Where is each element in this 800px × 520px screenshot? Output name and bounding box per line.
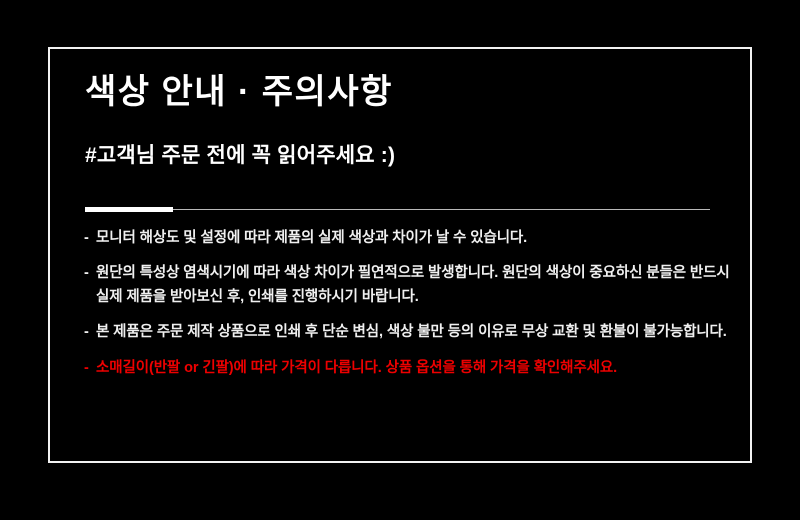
notice-banner: 색상 안내 · 주의사항 #고객님 주문 전에 꼭 읽어주세요 :) - 모니터… — [0, 0, 800, 520]
bullet-dash-icon: - — [84, 262, 89, 285]
list-item-text: 모니터 해상도 및 설정에 따라 제품의 실제 색상과 차이가 날 수 있습니다… — [96, 227, 734, 250]
list-item: - 원단의 특성상 염색시기에 따라 색상 차이가 필연적으로 발생합니다. 원… — [84, 262, 734, 309]
notice-item-list: - 모니터 해상도 및 설정에 따라 제품의 실제 색상과 차이가 날 수 있습… — [84, 227, 734, 392]
list-item-text: 소매길이(반팔 or 긴팔)에 따라 가격이 다릅니다. 상품 옵션을 통해 가… — [96, 357, 734, 380]
notice-content: 색상 안내 · 주의사항 #고객님 주문 전에 꼭 읽어주세요 :) - 모니터… — [50, 49, 750, 461]
bullet-dash-icon: - — [84, 357, 89, 380]
page-title: 색상 안내 · 주의사항 — [85, 74, 393, 111]
bullet-dash-icon: - — [84, 227, 89, 250]
divider-accent-segment — [85, 207, 173, 212]
divider-rule — [173, 209, 710, 210]
list-item-text: 원단의 특성상 염색시기에 따라 색상 차이가 필연적으로 발생합니다. 원단의… — [96, 262, 734, 309]
list-item: - 모니터 해상도 및 설정에 따라 제품의 실제 색상과 차이가 날 수 있습… — [84, 227, 734, 250]
page-subtitle: #고객님 주문 전에 꼭 읽어주세요 :) — [85, 144, 395, 167]
bullet-dash-icon: - — [84, 321, 89, 344]
list-item-alert: - 소매길이(반팔 or 긴팔)에 따라 가격이 다릅니다. 상품 옵션을 통해… — [84, 357, 734, 380]
list-item: - 본 제품은 주문 제작 상품으로 인쇄 후 단순 변심, 색상 불만 등의 … — [84, 321, 734, 344]
list-item-text: 본 제품은 주문 제작 상품으로 인쇄 후 단순 변심, 색상 불만 등의 이유… — [96, 321, 734, 344]
notice-frame-border: 색상 안내 · 주의사항 #고객님 주문 전에 꼭 읽어주세요 :) - 모니터… — [48, 47, 752, 463]
section-divider — [85, 207, 710, 212]
